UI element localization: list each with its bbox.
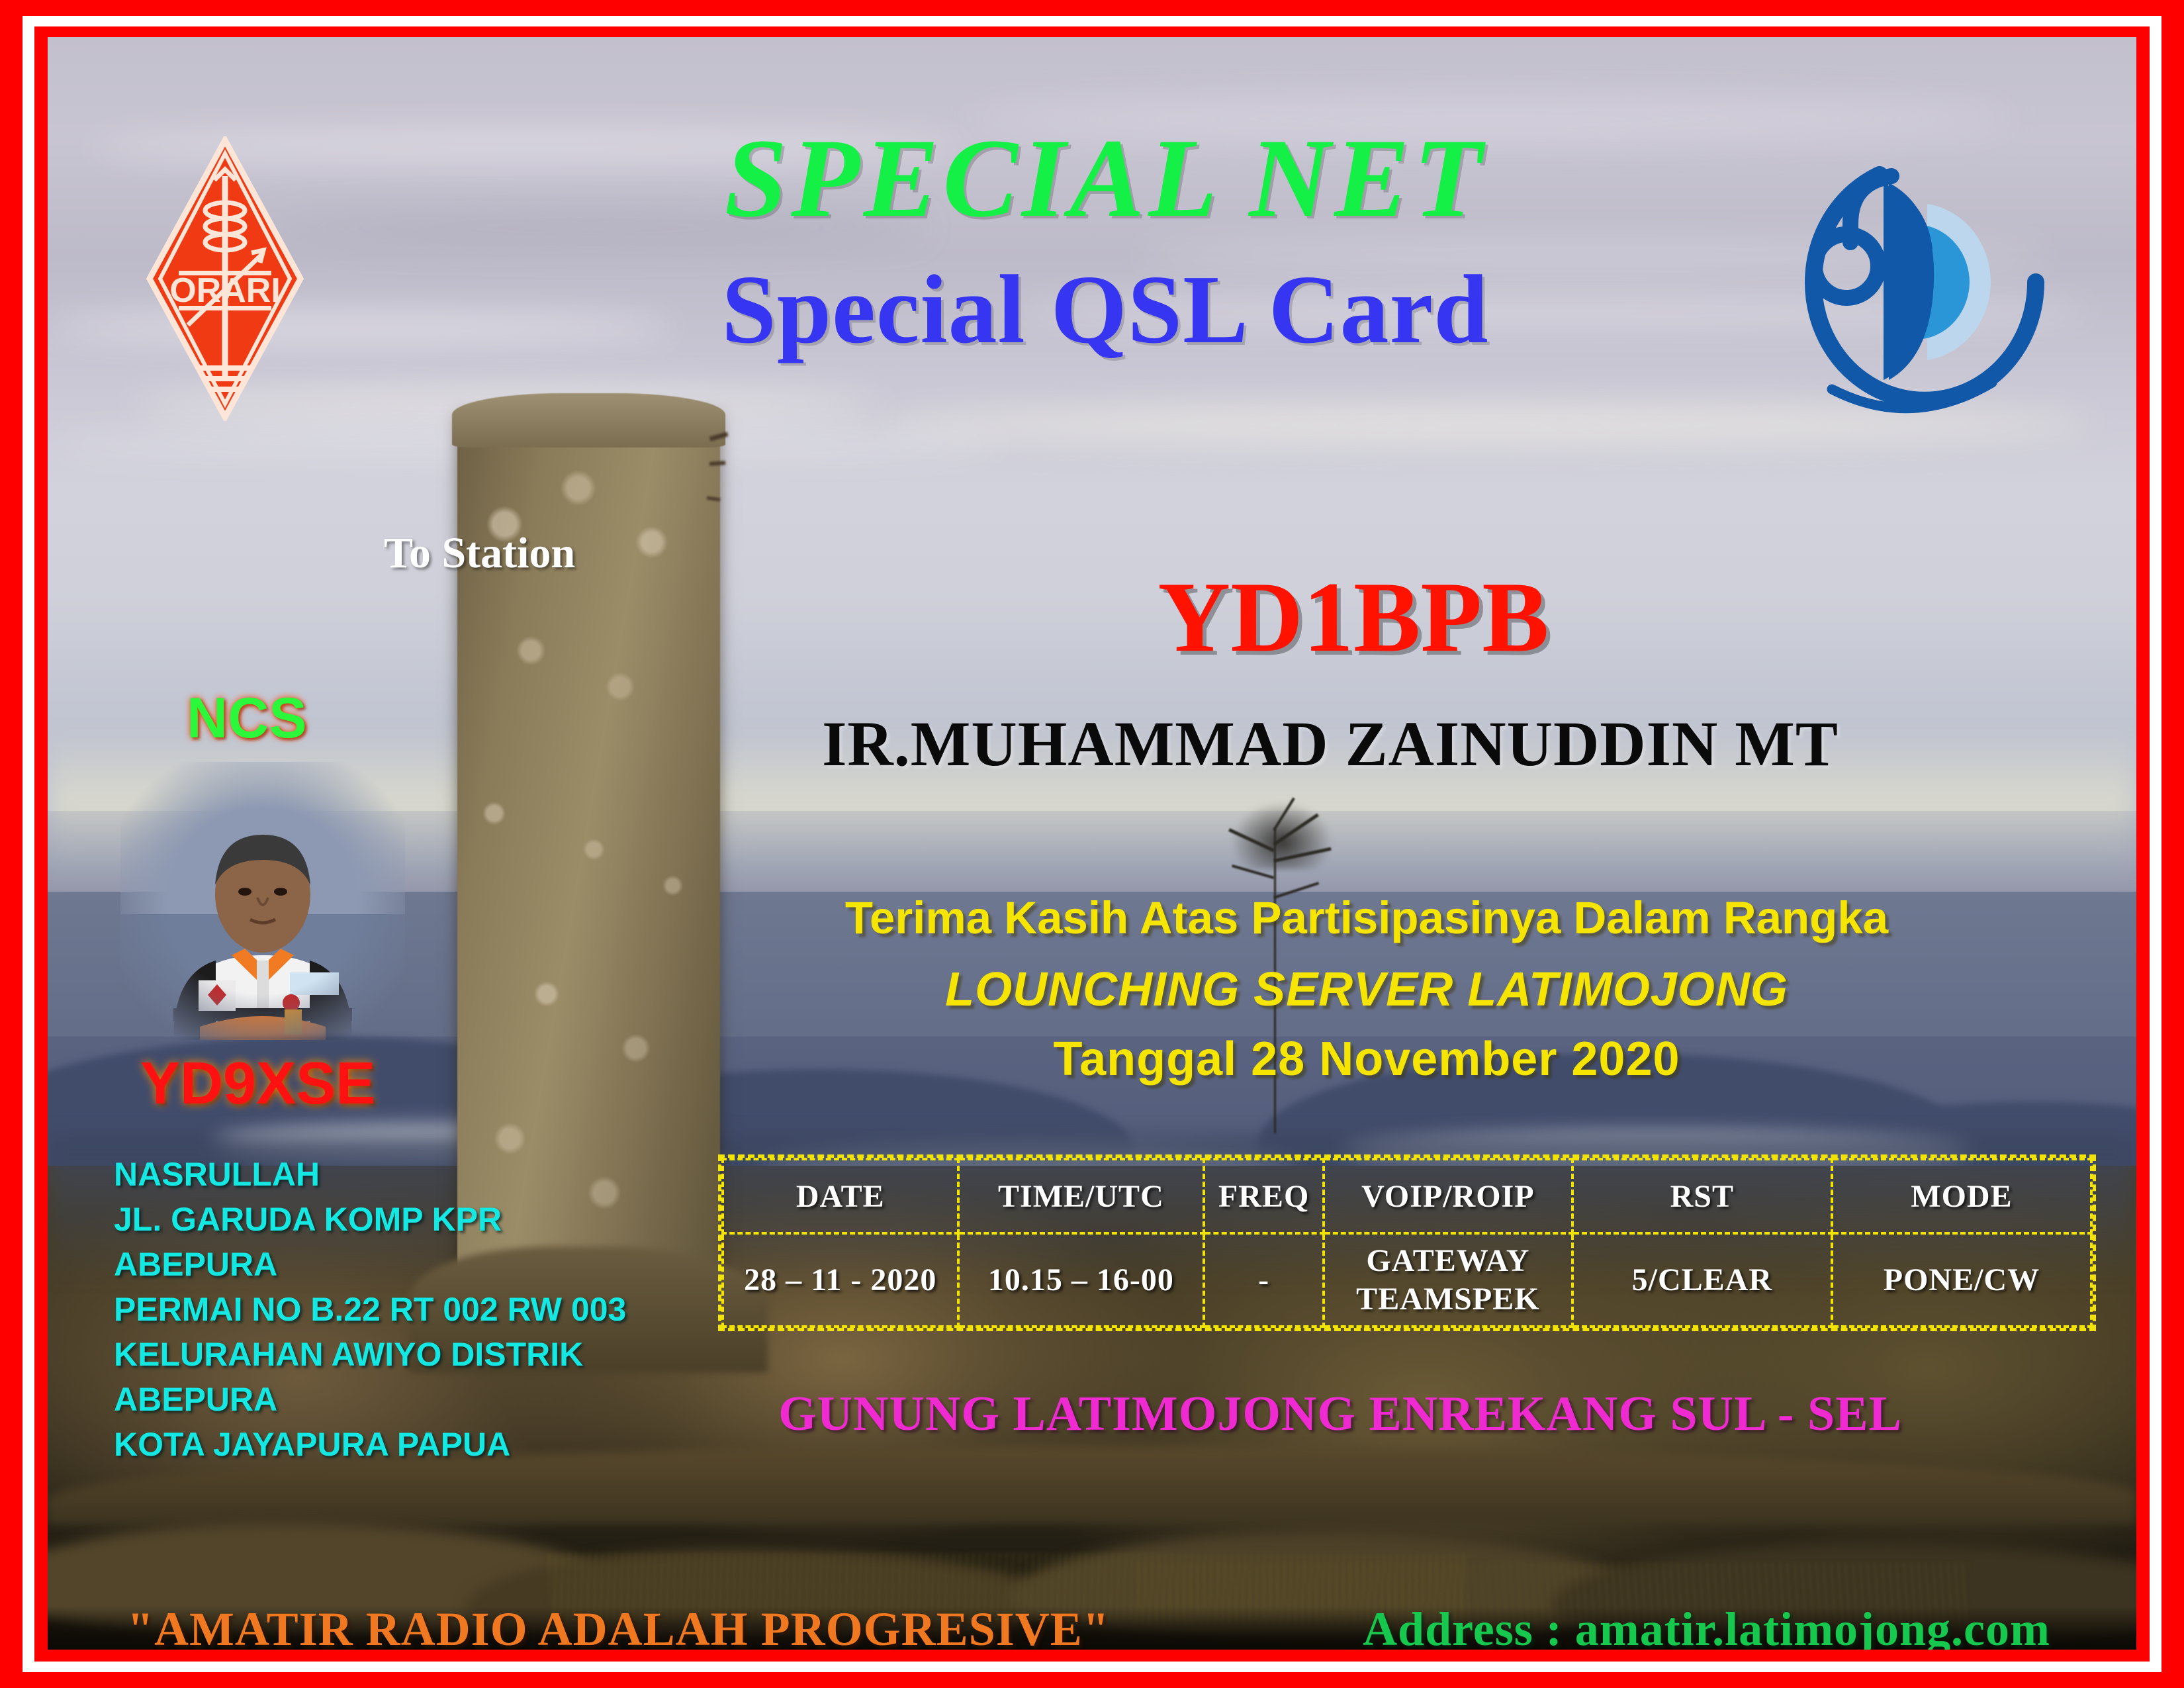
address-line: KELURAHAN AWIYO DISTRIK — [114, 1332, 643, 1377]
address-line: NASRULLAH — [114, 1152, 643, 1197]
address-line: ABEPURA — [114, 1377, 643, 1422]
twig — [709, 461, 725, 466]
card-subtitle: Special QSL Card — [48, 261, 2136, 359]
website-address: Address : amatir.latimojong.com — [1363, 1602, 2050, 1650]
event-name: LOUNCHING SERVER LATIMOJONG — [749, 964, 1984, 1016]
event-date: Tanggal 28 November 2020 — [749, 1033, 1984, 1086]
column-header-voip: VOIP/ROIP — [1324, 1159, 1572, 1233]
cell-freq: - — [1204, 1233, 1324, 1327]
address-line: PERMAI NO B.22 RT 002 RW 003 — [114, 1287, 643, 1332]
qso-details-table: DATE TIME/UTC FREQ VOIP/ROIP RST MODE 28… — [718, 1154, 2096, 1331]
thanks-message: Terima Kasih Atas Partisipasinya Dalam R… — [749, 891, 1984, 945]
address-line: JL. GARUDA KOMP KPR — [114, 1197, 643, 1242]
to-station-label: To Station — [384, 528, 575, 579]
twig — [707, 496, 720, 502]
cell-voip: GATEWAY TEAMSPEK — [1324, 1233, 1572, 1327]
monument-cap — [452, 393, 726, 447]
column-header-time: TIME/UTC — [958, 1159, 1205, 1233]
station-address: NASRULLAH JL. GARUDA KOMP KPR ABEPURA PE… — [114, 1152, 643, 1467]
qsl-card: ORARI SPECIAL NET Special QSL Card — [0, 0, 2184, 1688]
cell-time: 10.15 – 16-00 — [958, 1233, 1205, 1327]
address-line: KOTA JAYAPURA PAPUA — [114, 1422, 643, 1467]
card-background-photo: ORARI SPECIAL NET Special QSL Card — [48, 37, 2136, 1650]
column-header-mode: MODE — [1832, 1159, 2091, 1233]
motto-text: "AMATIR RADIO ADALAH PROGRESIVE" — [127, 1602, 1110, 1650]
cell-date: 28 – 11 - 2020 — [723, 1233, 958, 1327]
card-title: SPECIAL NET — [48, 122, 2136, 234]
column-header-date: DATE — [723, 1159, 958, 1233]
cell-rst: 5/CLEAR — [1572, 1233, 1832, 1327]
column-header-rst: RST — [1572, 1159, 1832, 1233]
ncs-label: NCS — [187, 686, 307, 751]
location-line: GUNUNG LATIMOJONG ENREKANG SUL - SEL — [696, 1386, 1984, 1442]
table-row: 28 – 11 - 2020 10.15 – 16-00 - GATEWAY T… — [723, 1233, 2091, 1327]
column-header-freq: FREQ — [1204, 1159, 1324, 1233]
table-header-row: DATE TIME/UTC FREQ VOIP/ROIP RST MODE — [723, 1159, 2091, 1233]
address-line: ABEPURA — [114, 1242, 643, 1287]
cell-mode: PONE/CW — [1832, 1233, 2091, 1327]
callsign: YD1BPB — [789, 567, 1918, 667]
operator-name: IR.MUHAMMAD ZAINUDDIN MT — [683, 712, 1978, 776]
ncs-operator-photo — [120, 762, 405, 1040]
ncs-callsign: YD9XSE — [140, 1050, 375, 1118]
